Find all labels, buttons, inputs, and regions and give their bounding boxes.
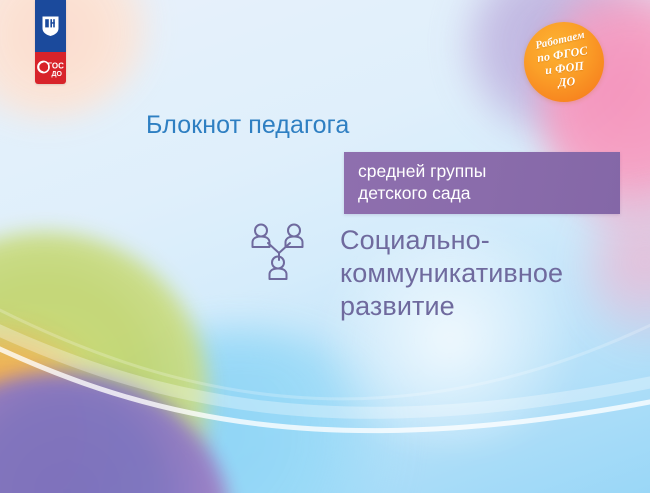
subject-line-2: коммуникативное: [340, 257, 630, 290]
background-blob-lime: [0, 232, 210, 493]
publisher-logo: ГОС ДО: [35, 0, 66, 84]
background-blob-cyan: [60, 330, 420, 493]
publisher-logo-top: [35, 0, 66, 52]
svg-text:ДО: ДО: [52, 71, 63, 78]
subject-line-1: Социально-: [340, 224, 630, 257]
gos-do-mark-icon: ГОС ДО: [37, 57, 64, 79]
seal-line-4: ДО: [541, 73, 593, 92]
shield-book-icon: [41, 15, 60, 37]
svg-text:ГОС: ГОС: [48, 61, 65, 70]
age-group-line-2: детского сада: [358, 182, 620, 204]
fgos-compliance-seal: Работаем по ФГОС и ФОП ДО: [524, 22, 604, 102]
seal-text: Работаем по ФГОС и ФОП ДО: [534, 31, 593, 94]
age-group-banner: средней группы детского сада: [344, 152, 620, 214]
three-people-group-icon: [250, 222, 308, 284]
background-blob-peach: [0, 0, 150, 120]
background-blob-violet: [0, 372, 230, 493]
publisher-logo-bottom: ГОС ДО: [35, 52, 66, 84]
book-cover: ГОС ДО Работаем по ФГОС и ФОП ДО Блокнот…: [0, 0, 650, 493]
cover-kicker: Блокнот педагога: [146, 111, 349, 140]
subject-line-3: развитие: [340, 290, 630, 323]
age-group-line-1: средней группы: [358, 160, 620, 182]
subject-title: Социально- коммуникативное развитие: [340, 224, 630, 323]
background-blob-orange: [0, 330, 100, 493]
